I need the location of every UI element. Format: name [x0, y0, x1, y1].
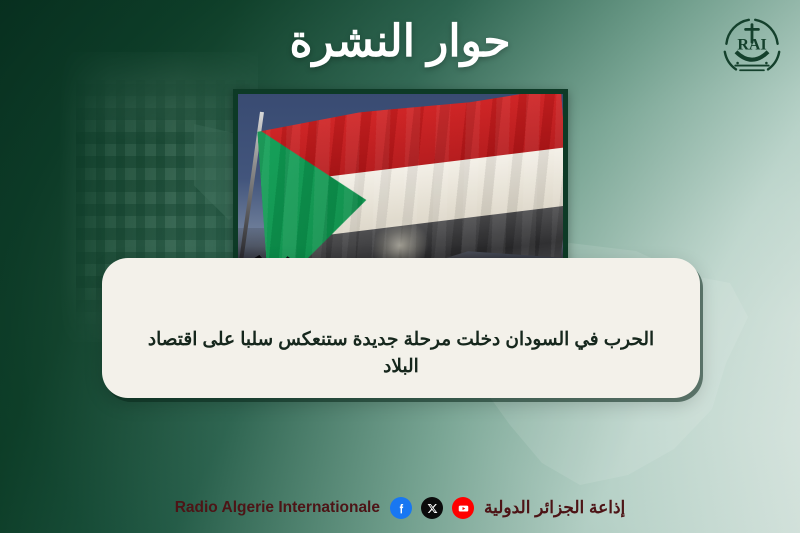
footer-bar: Radio Algerie Internationale إذاعة الجزا…: [0, 497, 800, 519]
footer-station-name-arabic: إذاعة الجزائر الدولية: [484, 498, 625, 518]
x-icon[interactable]: [421, 497, 443, 519]
footer-station-name-latin: Radio Algerie Internationale: [175, 499, 380, 517]
program-title: حوار النشرة: [0, 12, 800, 71]
caption-card: الحرب في السودان دخلت مرحلة جديدة ستنعكس…: [102, 258, 700, 398]
caption-text: الحرب في السودان دخلت مرحلة جديدة ستنعكس…: [128, 325, 674, 381]
station-logo: RAI: [712, 6, 792, 88]
facebook-icon[interactable]: [390, 497, 412, 519]
youtube-icon[interactable]: [452, 497, 474, 519]
social-links: [390, 497, 474, 519]
poster-canvas: حوار النشرة RAI: [0, 0, 800, 533]
svg-text:RAI: RAI: [737, 36, 766, 53]
